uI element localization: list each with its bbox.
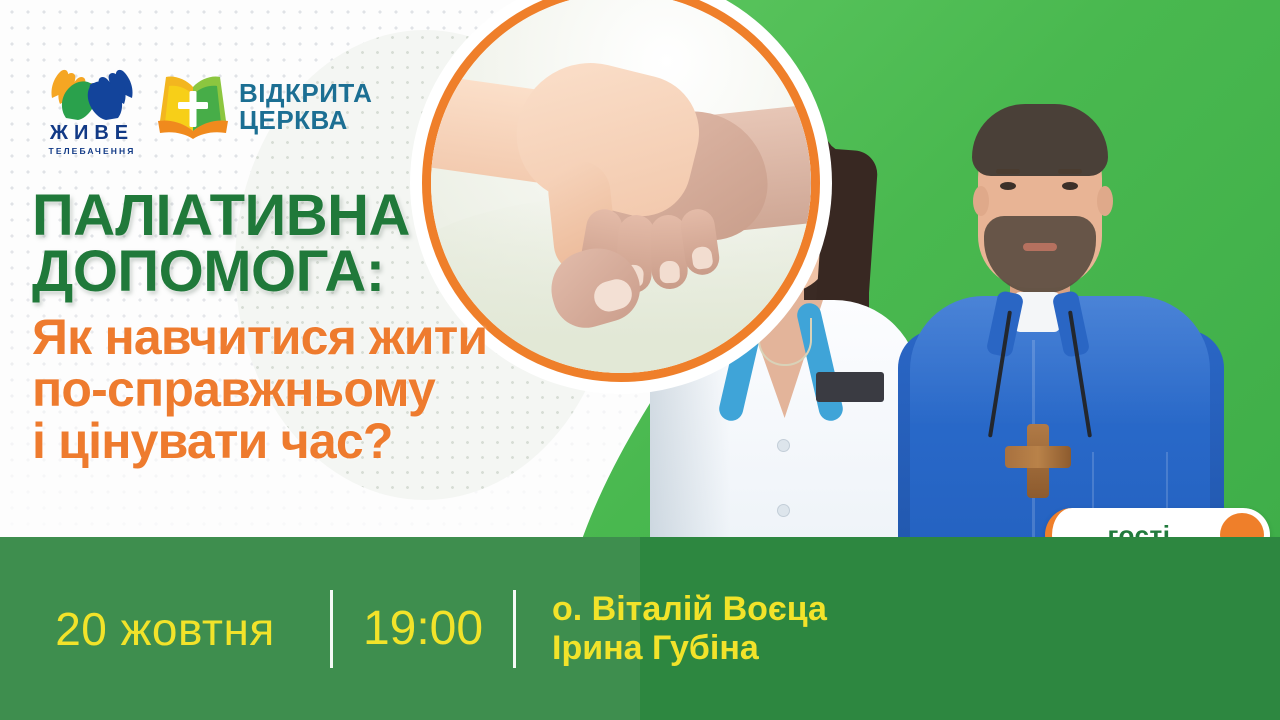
subtitle-line-2: по-справжньому	[32, 363, 692, 415]
subtitle-line-3: і цінувати час?	[32, 415, 692, 467]
speaker-name: о. Віталій Воєца	[552, 590, 1280, 628]
live-tv-logo[interactable]: ЖИВЕ ТЕЛЕБАЧЕННЯ	[44, 58, 140, 156]
speaker-name: Ірина Губіна	[552, 629, 1280, 667]
logo-group: ЖИВЕ ТЕЛЕБАЧЕННЯ ВІДКРИТА ЦЕРКВА	[44, 58, 372, 156]
priest-eyebrow-left	[996, 169, 1020, 174]
event-time: 19:00	[333, 601, 513, 656]
subtitle-line-1: Як навчитися жити	[32, 311, 692, 363]
broadcast-announcement-poster: ЖИВЕ ТЕЛЕБАЧЕННЯ ВІДКРИТА ЦЕРКВА ПАЛІАТИ…	[0, 0, 1280, 720]
wooden-cross-crossbar	[1005, 446, 1071, 468]
poster-title: ПАЛІАТИВНА ДОПОМОГА:	[32, 188, 692, 299]
live-tv-wordmark: ЖИВЕ	[50, 123, 134, 143]
open-church-line2: ЦЕРКВА	[239, 107, 372, 134]
priest-shirt-pocket	[1092, 452, 1168, 516]
two-hands-icon	[44, 58, 140, 120]
poster-subtitle: Як навчитися жити по-справжньому і цінув…	[32, 311, 692, 467]
footer-divider	[330, 590, 333, 668]
open-church-wordmark: ВІДКРИТА ЦЕРКВА	[239, 80, 372, 133]
priest-ear-right	[1097, 186, 1113, 216]
open-church-logo[interactable]: ВІДКРИТА ЦЕРКВА	[156, 73, 372, 141]
priest-ear-left	[973, 186, 989, 216]
speaker-list: о. Віталій Воєца Ірина Губіна	[516, 590, 1280, 666]
woman-coat-button	[778, 505, 789, 516]
title-line-1: ПАЛІАТИВНА	[32, 188, 692, 244]
priest-mouth	[1023, 243, 1057, 251]
woman-coat-button	[778, 440, 789, 451]
woman-name-badge	[816, 372, 884, 402]
priest-beard	[984, 216, 1096, 294]
open-book-cross-icon	[156, 73, 230, 141]
title-line-2: ДОПОМОГА:	[32, 244, 692, 300]
footer-divider	[513, 590, 516, 668]
live-tv-subtitle: ТЕЛЕБАЧЕННЯ	[49, 146, 136, 156]
event-date: 20 жовтня	[0, 602, 330, 656]
priest-eye-right	[1062, 182, 1078, 190]
priest-eye-left	[1000, 182, 1016, 190]
priest-eyebrow-right	[1058, 169, 1082, 174]
headline-block: ПАЛІАТИВНА ДОПОМОГА: Як навчитися жити п…	[32, 188, 692, 467]
open-church-line1: ВІДКРИТА	[239, 80, 372, 107]
footer-content: 20 жовтня 19:00 о. Віталій Воєца Ірина Г…	[0, 537, 1280, 720]
priest-hair	[972, 104, 1108, 176]
